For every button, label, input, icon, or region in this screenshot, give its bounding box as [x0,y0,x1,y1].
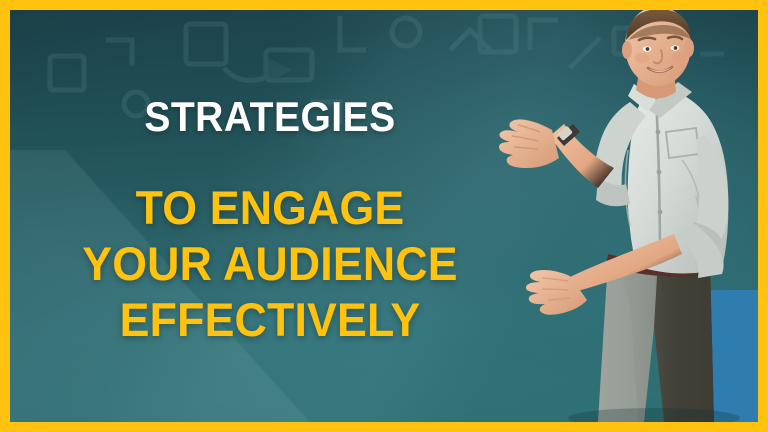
kicker-text: STRATEGIES [28,96,512,138]
video-thumbnail: STRATEGIES TO ENGAGE YOUR AUDIENCE EFFEC… [0,0,768,432]
headline-line-3: EFFECTIVELY [23,292,517,348]
background-blue-block [706,290,758,422]
headline-line-1: TO ENGAGE [23,180,517,236]
headline-text: TO ENGAGE YOUR AUDIENCE EFFECTIVELY [23,180,517,348]
headline-line-2: YOUR AUDIENCE [23,236,517,292]
thumbnail-stage: STRATEGIES TO ENGAGE YOUR AUDIENCE EFFEC… [10,10,758,422]
